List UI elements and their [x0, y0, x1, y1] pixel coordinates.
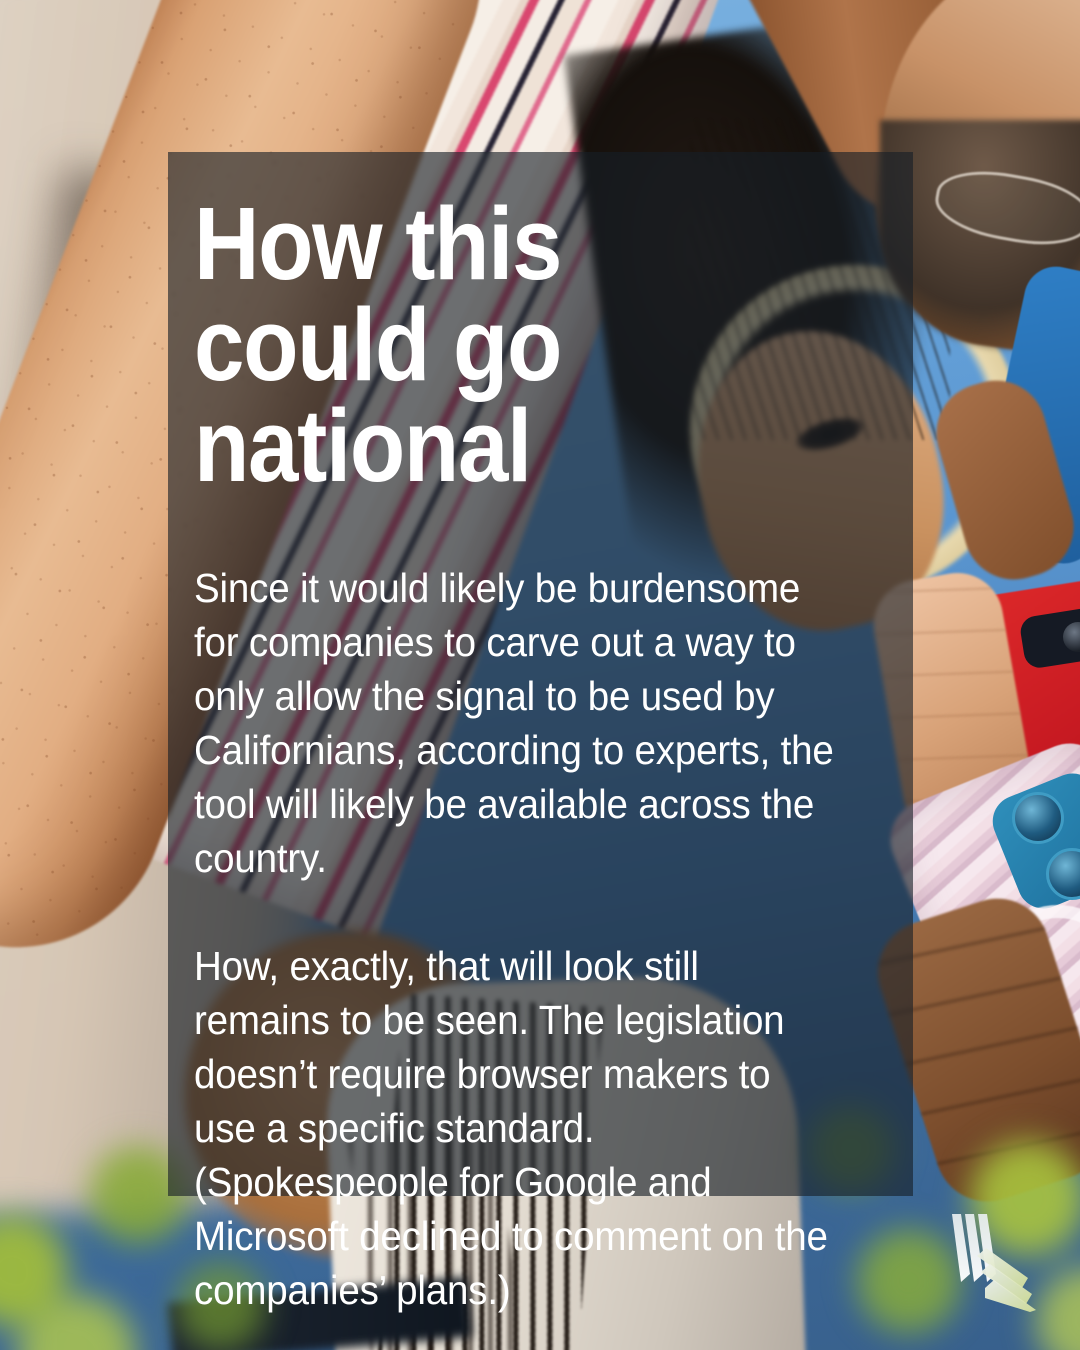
text-overlay-panel: How this could go national Since it woul…	[168, 152, 913, 1196]
publisher-chevron-logo	[948, 1212, 1044, 1312]
body-paragraph-1: Since it would likely be burdensome for …	[194, 561, 838, 885]
page-title: How this could go national	[194, 194, 797, 497]
body-paragraph-2: How, exactly, that will look still remai…	[194, 939, 838, 1317]
social-card: How this could go national Since it woul…	[0, 0, 1080, 1350]
pink-phone-lens-top	[1012, 792, 1064, 844]
